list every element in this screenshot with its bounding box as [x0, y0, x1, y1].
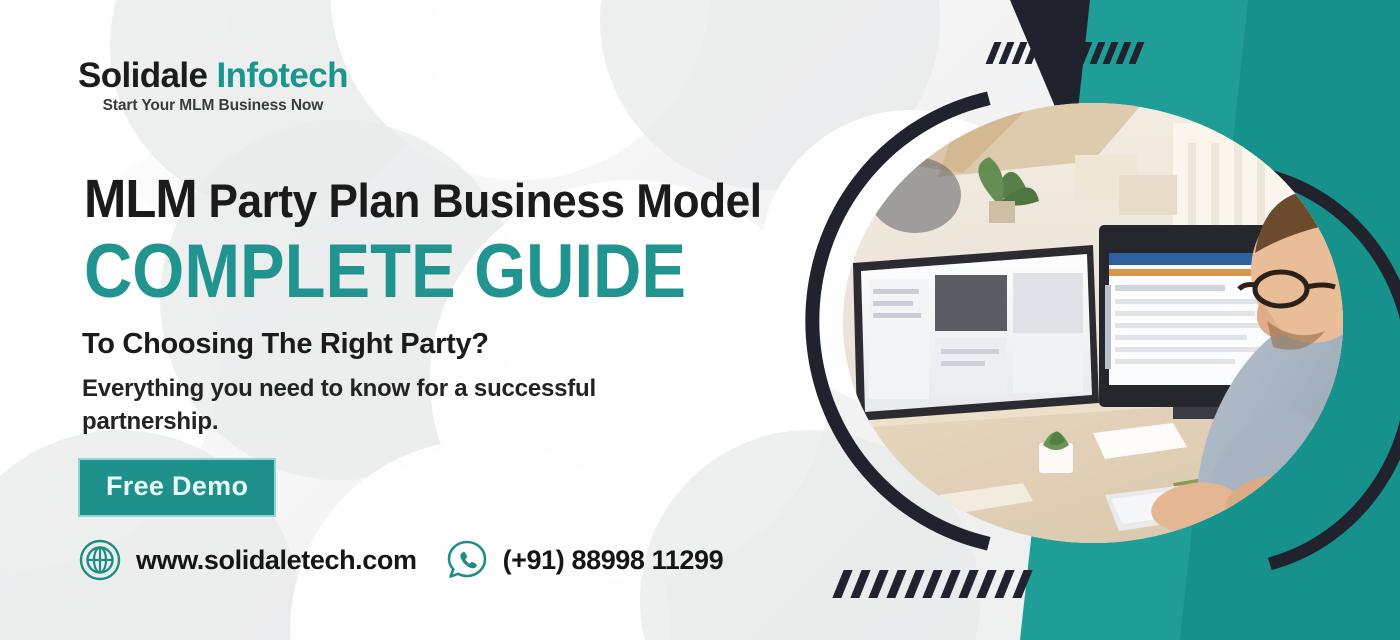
phone-contact[interactable]: (+91) 88998 11299	[445, 538, 724, 582]
website-text: www.solidaletech.com	[136, 545, 417, 576]
headline-line-2: COMPLETE GUIDE	[84, 234, 718, 310]
globe-icon	[78, 538, 122, 582]
free-demo-button[interactable]: Free Demo	[78, 458, 276, 517]
logo-wordmark: Solidale Infotech	[78, 58, 348, 95]
stripes-top-decoration	[990, 42, 1146, 64]
subheading-question: To Choosing The Right Party?	[82, 328, 489, 361]
logo-secondary-text: Infotech	[217, 56, 348, 95]
company-logo[interactable]: Solidale Infotech Start Your MLM Busines…	[78, 58, 348, 115]
stripes-bottom-decoration	[838, 570, 1036, 598]
hero-photo	[843, 103, 1343, 543]
marketing-banner: Solidale Infotech Start Your MLM Busines…	[0, 0, 1400, 640]
whatsapp-icon	[445, 538, 489, 582]
headline-emphasis: MLM	[84, 169, 197, 229]
phone-text: (+91) 88998 11299	[503, 545, 724, 576]
headline-block: MLM Party Plan Business Model COMPLETE G…	[84, 172, 804, 310]
subheading-description: Everything you need to know for a succes…	[82, 372, 642, 438]
headline-rest: Party Plan Business Model	[197, 174, 762, 227]
headline-line-1: MLM Party Plan Business Model	[84, 172, 761, 226]
contact-bar: www.solidaletech.com (+91) 88998 11299	[78, 538, 723, 582]
logo-tagline: Start Your MLM Business Now	[78, 97, 348, 115]
website-contact[interactable]: www.solidaletech.com	[78, 538, 417, 582]
logo-primary-text: Solidale	[78, 56, 207, 95]
